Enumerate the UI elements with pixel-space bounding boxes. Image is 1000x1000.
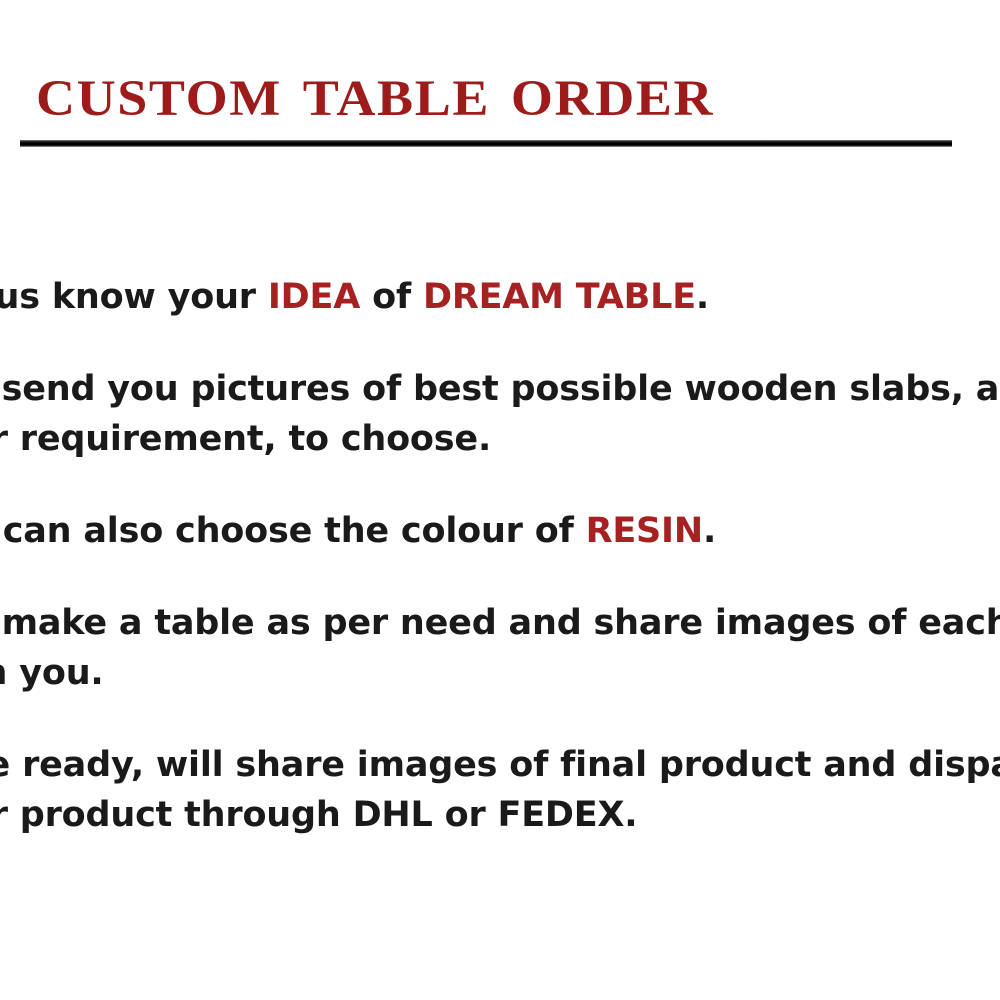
paragraph-make-table: ll make a table as per need and share im… <box>0 598 1000 698</box>
text-segment: . <box>696 277 709 317</box>
highlighted-term: RESIN <box>586 511 703 551</box>
text-segment: . <box>703 511 716 551</box>
highlighted-term: IDEA <box>268 277 360 317</box>
paragraph-slabs: ll send you pictures of best possible wo… <box>0 364 1000 464</box>
text-line: ll send you pictures of best possible wo… <box>0 364 1000 414</box>
text-segment: of <box>360 277 423 317</box>
text-segment: ll make a table as per need and share im… <box>0 603 1000 643</box>
text-line: ur requirement, to choose. <box>0 414 1000 464</box>
text-line: ce ready, will share images of final pro… <box>0 740 1000 790</box>
text-line: t us know your IDEA of DREAM TABLE. <box>0 272 1000 322</box>
text-segment: t us know your <box>0 277 268 317</box>
text-segment: th you. <box>0 653 104 693</box>
text-line: th you. <box>0 648 1000 698</box>
text-segment: ll send you pictures of best possible wo… <box>0 369 1000 409</box>
text-line: u can also choose the colour of RESIN. <box>0 506 1000 556</box>
text-segment: ur product through DHL or FEDEX. <box>0 795 637 835</box>
text-segment: ce ready, will share images of final pro… <box>0 745 1000 785</box>
body-copy: t us know your IDEA of DREAM TABLE.ll se… <box>0 272 1000 840</box>
text-segment: u can also choose the colour of <box>0 511 586 551</box>
title-divider-rule <box>20 140 952 147</box>
title-block: Custom Table Order <box>0 52 1000 152</box>
paragraph-dispatch: ce ready, will share images of final pro… <box>0 740 1000 840</box>
paragraph-idea: t us know your IDEA of DREAM TABLE. <box>0 272 1000 322</box>
text-line: ur product through DHL or FEDEX. <box>0 790 1000 840</box>
highlighted-term: DREAM TABLE <box>423 277 696 317</box>
text-line: ll make a table as per need and share im… <box>0 598 1000 648</box>
page-title: Custom Table Order <box>36 52 990 130</box>
text-segment: ur requirement, to choose. <box>0 419 491 459</box>
paragraph-resin: u can also choose the colour of RESIN. <box>0 506 1000 556</box>
document-page: Custom Table Order t us know your IDEA o… <box>0 0 1000 1000</box>
